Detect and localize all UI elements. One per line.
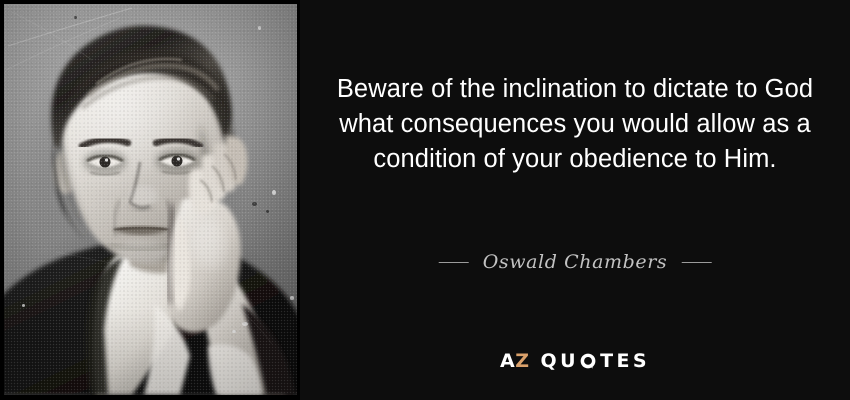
logo-letter-q: Q xyxy=(541,350,561,372)
attribution-rule-left xyxy=(439,262,469,263)
logo-letter-a: A xyxy=(500,350,515,372)
speech-bubble-icon xyxy=(580,353,596,369)
logo-letter-z: Z xyxy=(515,350,529,372)
portrait-panel xyxy=(0,0,300,400)
logo-letter-s: S xyxy=(633,350,650,372)
portrait-frame xyxy=(4,4,297,395)
quote-text: Beware of the inclination to dictate to … xyxy=(321,72,829,177)
az-quotes-logo[interactable]: A Z Q U T E S xyxy=(500,350,650,372)
logo-az: A Z xyxy=(500,350,530,372)
attribution-author: Oswald Chambers xyxy=(483,251,668,273)
logo-letter-u: U xyxy=(560,350,579,372)
logo-quotes: Q U T E S xyxy=(541,350,650,372)
logo-letter-e: E xyxy=(616,350,632,372)
photo-grain xyxy=(4,4,297,395)
logo-letter-t: T xyxy=(600,350,616,372)
text-panel: Beware of the inclination to dictate to … xyxy=(300,0,850,400)
quote-card: Beware of the inclination to dictate to … xyxy=(0,0,850,400)
attribution-rule-right xyxy=(681,262,711,263)
attribution: Oswald Chambers xyxy=(439,251,712,273)
